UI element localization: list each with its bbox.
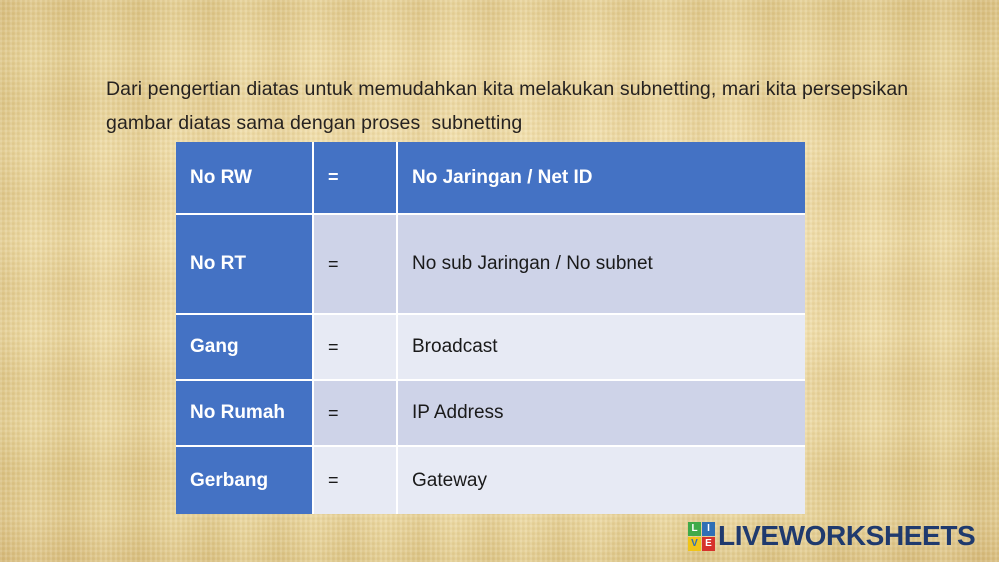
- row-value-cell: Gateway: [398, 447, 805, 514]
- table-row: Gerbang = Gateway: [176, 447, 805, 514]
- subnetting-analogy-table: No RW = No Jaringan / Net ID No RT = No …: [176, 142, 805, 514]
- logo-tile-i: I: [702, 522, 715, 536]
- row-equals-cell: =: [314, 381, 398, 447]
- liveworksheets-wordmark: LIVEWORKSHEETS: [718, 522, 975, 550]
- slide-canvas: Dari pengertian diatas untuk memudahkan …: [0, 0, 999, 562]
- row-equals-cell: =: [314, 215, 398, 315]
- row-equals-cell: =: [314, 315, 398, 381]
- table-row: No Rumah = IP Address: [176, 381, 805, 447]
- table-header-row: No RW = No Jaringan / Net ID: [176, 142, 805, 215]
- row-value-cell: Broadcast: [398, 315, 805, 381]
- liveworksheets-watermark: L I V E LIVEWORKSHEETS: [688, 518, 975, 554]
- row-label-cell: Gerbang: [176, 447, 314, 514]
- row-label-cell: No RT: [176, 215, 314, 315]
- row-value-cell: IP Address: [398, 381, 805, 447]
- lead-paragraph: Dari pengertian diatas untuk memudahkan …: [106, 72, 936, 140]
- header-value-cell: No Jaringan / Net ID: [398, 142, 805, 215]
- liveworksheets-logo-icon: L I V E: [688, 522, 715, 551]
- header-equals-cell: =: [314, 142, 398, 215]
- row-label-cell: No Rumah: [176, 381, 314, 447]
- logo-tile-v: V: [688, 537, 701, 551]
- logo-tile-l: L: [688, 522, 701, 536]
- row-label-cell: Gang: [176, 315, 314, 381]
- table-row: Gang = Broadcast: [176, 315, 805, 381]
- row-equals-cell: =: [314, 447, 398, 514]
- logo-tile-e: E: [702, 537, 715, 551]
- row-value-cell: No sub Jaringan / No subnet: [398, 215, 805, 315]
- table-row: No RT = No sub Jaringan / No subnet: [176, 215, 805, 315]
- header-label-cell: No RW: [176, 142, 314, 215]
